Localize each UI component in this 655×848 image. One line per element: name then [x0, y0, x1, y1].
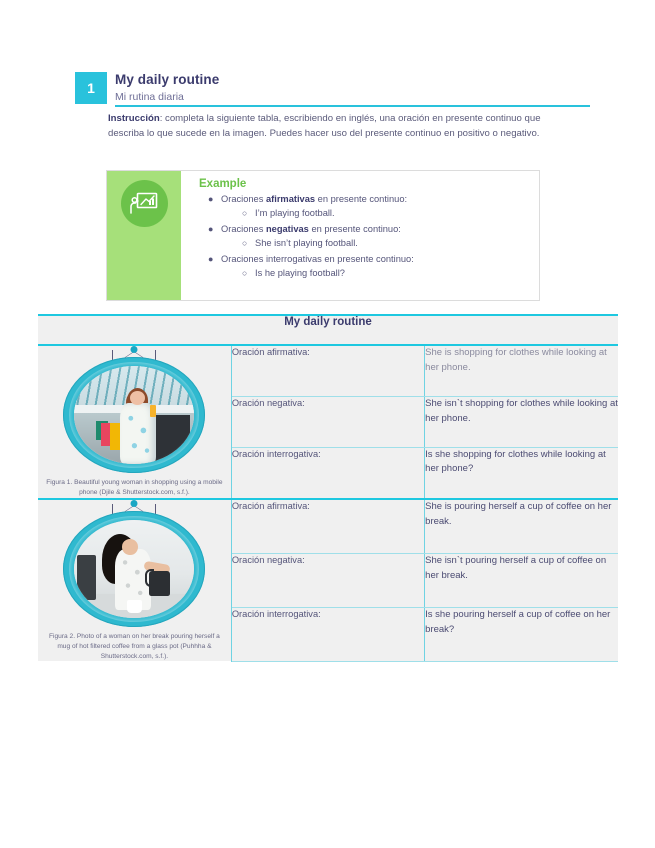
example-item-lead-a: Oraciones: [221, 254, 266, 264]
example-subitem-text: I’m playing football.: [255, 208, 335, 218]
example-subitem-text: She isn’t playing football.: [255, 238, 358, 248]
frame-hook-icon: [131, 346, 138, 353]
example-subitem: ○She isn’t playing football.: [255, 237, 529, 250]
header-divider: [115, 105, 590, 107]
example-subitem: ○Is he playing football?: [255, 267, 529, 280]
oval-frame: [63, 511, 205, 627]
sentence-value[interactable]: She isn`t pouring herself a cup of coffe…: [425, 554, 618, 608]
page-subtitle: Mi rutina diaria: [115, 91, 184, 103]
sentence-value[interactable]: She is pouring herself a cup of coffee o…: [425, 499, 618, 554]
sentence-label: Oración negativa:: [231, 554, 424, 608]
instruction-label: Instrucción: [108, 113, 160, 124]
example-item-lead-c: en presente continuo:: [315, 194, 407, 204]
table-title: My daily routine: [38, 315, 618, 345]
sentence-label: Oración afirmativa:: [231, 499, 424, 554]
sentence-value[interactable]: She is shopping for clothes while lookin…: [425, 345, 618, 397]
table-header-row: My daily routine: [38, 315, 618, 345]
figure-caption: Figura 1. Beautiful young woman in shopp…: [38, 478, 231, 498]
sentence-label: Oración afirmativa:: [231, 345, 424, 397]
shopping-woman-photo-cell: Figura 1. Beautiful young woman in shopp…: [38, 345, 231, 499]
sentence-label: Oración interrogativa:: [231, 608, 424, 662]
sentence-value[interactable]: Is she shopping for clothes while lookin…: [425, 447, 618, 499]
daily-routine-table: My daily routine: [38, 314, 618, 662]
example-item-keyword: afirmativas: [266, 194, 315, 204]
example-subitem-text: Is he playing football?: [255, 268, 345, 278]
example-item-keyword: interrogativas: [266, 254, 322, 264]
coffee-scene: [74, 520, 194, 618]
oval-frame: [63, 357, 205, 473]
example-item-lead-c: en presente continuo:: [309, 224, 401, 234]
shopping-woman-photo: [58, 346, 210, 474]
photo-area: [74, 520, 194, 618]
sentence-label: Oración negativa:: [231, 397, 424, 448]
table-row: Figura 1. Beautiful young woman in shopp…: [38, 345, 618, 397]
circle-bullet-icon: ○: [242, 207, 247, 219]
example-content: Example ●Oraciones afirmativas en presen…: [181, 171, 539, 300]
worksheet-page: 1 My daily routine Mi rutina diaria Inst…: [0, 0, 655, 848]
example-list: ●Oraciones afirmativas en presente conti…: [199, 193, 529, 281]
sentence-value[interactable]: Is she pouring herself a cup of coffee o…: [425, 608, 618, 662]
bullet-icon: ●: [208, 193, 213, 206]
example-item-lead-a: Oraciones: [221, 224, 266, 234]
example-item: ●Oraciones afirmativas en presente conti…: [221, 193, 529, 221]
example-title: Example: [199, 178, 529, 190]
photo-area: [74, 366, 194, 464]
example-sublist: ○Is he playing football?: [221, 267, 529, 280]
example-subitem: ○I’m playing football.: [255, 207, 529, 220]
frame-hook-icon: [131, 500, 138, 507]
sentence-value[interactable]: She isn`t shopping for clothes while loo…: [425, 397, 618, 448]
presentation-chart-icon: [121, 180, 168, 227]
coffee-woman-photo-cell: Figura 2. Photo of a woman on her break …: [38, 499, 231, 662]
circle-bullet-icon: ○: [242, 267, 247, 279]
bullet-icon: ●: [208, 223, 213, 236]
instruction-paragraph: Instrucción: completa la siguiente tabla…: [108, 111, 563, 141]
example-sublist: ○I’m playing football.: [221, 207, 529, 220]
sentence-label: Oración interrogativa:: [231, 447, 424, 499]
example-item: ●Oraciones interrogativas en presente co…: [221, 253, 529, 281]
circle-bullet-icon: ○: [242, 237, 247, 249]
section-number-badge: 1: [75, 72, 107, 104]
bullet-icon: ●: [208, 253, 213, 266]
coffee-woman-photo: [58, 500, 210, 628]
example-icon-panel: [107, 171, 181, 300]
example-item-keyword: negativas: [266, 224, 309, 234]
figure-caption: Figura 2. Photo of a woman on her break …: [38, 632, 231, 662]
example-box: Example ●Oraciones afirmativas en presen…: [106, 170, 540, 301]
table-row: Figura 2. Photo of a woman on her break …: [38, 499, 618, 554]
instruction-text: : completa la siguiente tabla, escribien…: [108, 113, 541, 139]
example-item: ●Oraciones negativas en presente continu…: [221, 223, 529, 251]
page-title: My daily routine: [115, 72, 219, 87]
example-item-lead-a: Oraciones: [221, 194, 266, 204]
shopping-scene: [74, 366, 194, 464]
example-sublist: ○She isn’t playing football.: [221, 237, 529, 250]
example-item-lead-c: en presente continuo:: [322, 254, 414, 264]
